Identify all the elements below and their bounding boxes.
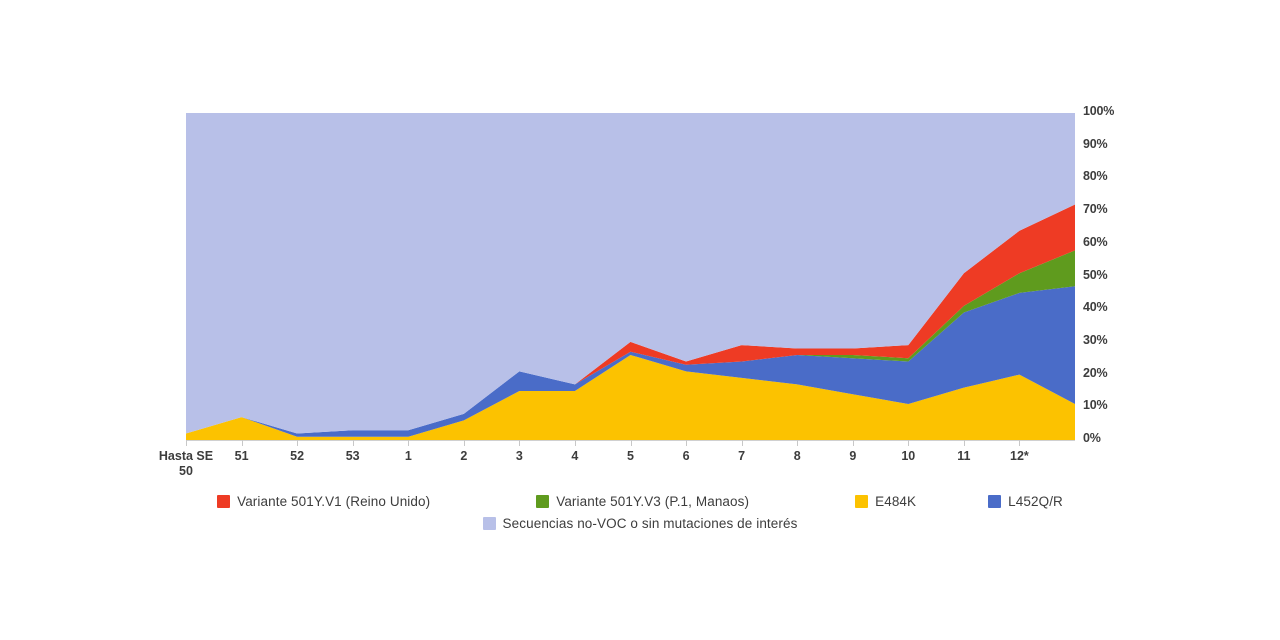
x-tick-label: 11 xyxy=(957,449,970,464)
x-tick-label: 7 xyxy=(738,449,745,464)
x-tick-label: 3 xyxy=(516,449,523,464)
x-tick-label: 52 xyxy=(290,449,304,464)
y-tick-label: 70% xyxy=(1083,202,1107,216)
x-tick-label: 51 xyxy=(235,449,249,464)
legend-item-no-voc[interactable]: Secuencias no-VOC o sin mutaciones de in… xyxy=(483,516,798,531)
legend-swatch-501yv3 xyxy=(536,495,549,508)
y-tick-label: 50% xyxy=(1083,268,1107,282)
x-tick xyxy=(575,440,576,446)
x-tick-label: 1 xyxy=(405,449,412,464)
y-tick-label: 100% xyxy=(1083,104,1114,118)
legend-label-no-voc: Secuencias no-VOC o sin mutaciones de in… xyxy=(503,516,798,531)
x-tick xyxy=(408,440,409,446)
y-tick-label: 30% xyxy=(1083,333,1107,347)
legend-label-501yv3: Variante 501Y.V3 (P.1, Manaos) xyxy=(556,494,749,509)
x-tick xyxy=(242,440,243,446)
x-tick-label: 4 xyxy=(571,449,578,464)
legend-swatch-501yv1 xyxy=(217,495,230,508)
legend: Variante 501Y.V1 (Reino Unido) Variante … xyxy=(0,490,1280,534)
x-tick-label: 2 xyxy=(460,449,467,464)
legend-swatch-l452qr xyxy=(988,495,1001,508)
stacked-area-chart: 0%10%20%30%40%50%60%70%80%90%100% Hasta … xyxy=(0,0,1280,640)
y-axis-labels: 0%10%20%30%40%50%60%70%80%90%100% xyxy=(1083,104,1143,449)
x-tick-label: 6 xyxy=(683,449,690,464)
x-tick xyxy=(686,440,687,446)
legend-item-e484k[interactable]: E484K xyxy=(855,494,916,509)
y-tick-label: 40% xyxy=(1083,300,1107,314)
x-tick xyxy=(797,440,798,446)
x-tick xyxy=(964,440,965,446)
x-tick-label: 8 xyxy=(794,449,801,464)
x-tick xyxy=(742,440,743,446)
x-tick xyxy=(631,440,632,446)
x-axis-labels: Hasta SE50515253123456789101112* xyxy=(0,449,1280,489)
legend-item-501yv3[interactable]: Variante 501Y.V3 (P.1, Manaos) xyxy=(536,494,749,509)
area-series-svg xyxy=(186,113,1075,440)
x-tick-label: 10 xyxy=(901,449,915,464)
x-tick xyxy=(464,440,465,446)
legend-swatch-no-voc xyxy=(483,517,496,530)
x-tick-label: Hasta SE50 xyxy=(159,449,213,479)
x-tick xyxy=(908,440,909,446)
y-tick-label: 10% xyxy=(1083,398,1107,412)
y-tick-label: 80% xyxy=(1083,169,1107,183)
y-tick-label: 90% xyxy=(1083,137,1107,151)
plot-area xyxy=(186,113,1075,440)
y-tick-label: 20% xyxy=(1083,366,1107,380)
legend-row-secondary: Secuencias no-VOC o sin mutaciones de in… xyxy=(0,512,1280,534)
legend-item-501yv1[interactable]: Variante 501Y.V1 (Reino Unido) xyxy=(217,494,430,509)
legend-label-e484k: E484K xyxy=(875,494,916,509)
y-tick-label: 0% xyxy=(1083,431,1101,445)
y-tick-label: 60% xyxy=(1083,235,1107,249)
x-tick xyxy=(297,440,298,446)
legend-row-primary: Variante 501Y.V1 (Reino Unido) Variante … xyxy=(0,490,1280,512)
x-tick xyxy=(353,440,354,446)
x-tick xyxy=(1019,440,1020,446)
x-tick xyxy=(519,440,520,446)
x-tick-label: 53 xyxy=(346,449,360,464)
legend-label-501yv1: Variante 501Y.V1 (Reino Unido) xyxy=(237,494,430,509)
x-tick-label: 12* xyxy=(1010,449,1029,464)
x-tick-label: 5 xyxy=(627,449,634,464)
x-tick xyxy=(186,440,187,446)
x-tick xyxy=(853,440,854,446)
legend-swatch-e484k xyxy=(855,495,868,508)
legend-label-l452qr: L452Q/R xyxy=(1008,494,1063,509)
legend-item-l452qr[interactable]: L452Q/R xyxy=(988,494,1063,509)
x-tick-label: 9 xyxy=(849,449,856,464)
